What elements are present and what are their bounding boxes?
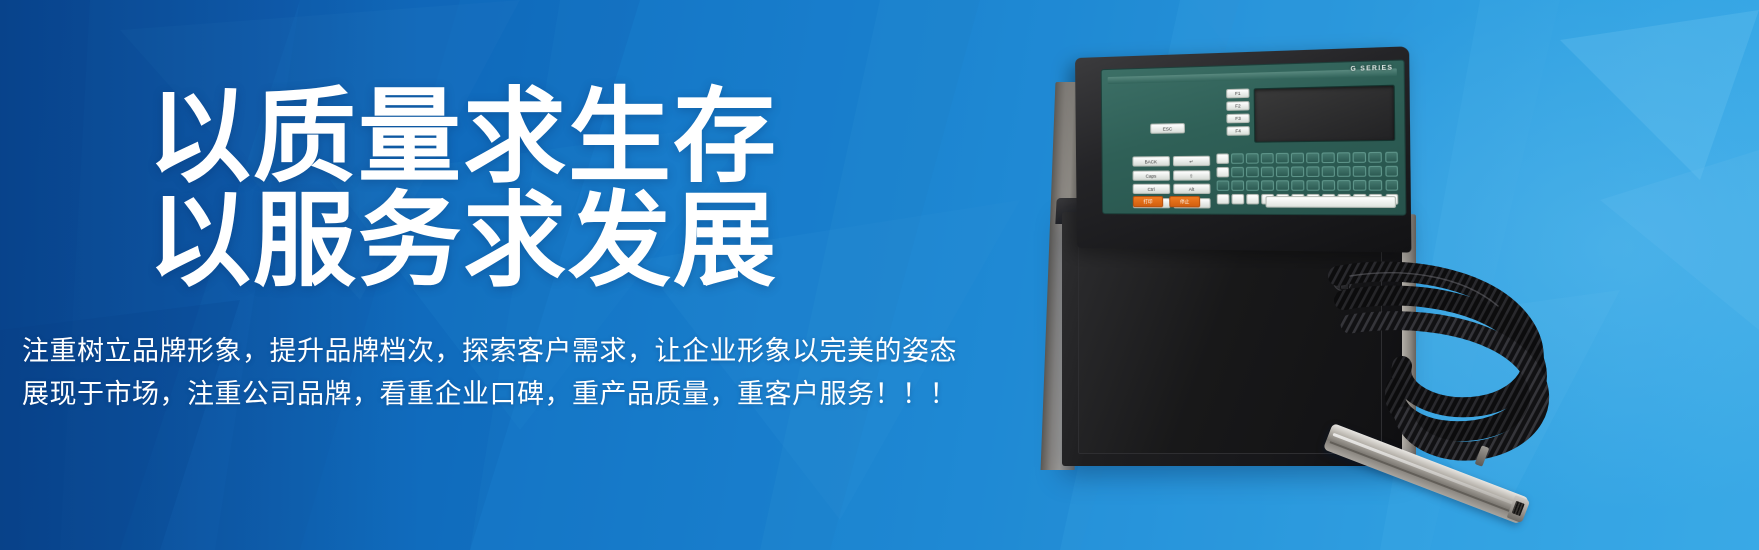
- keyboard-key[interactable]: [1353, 166, 1366, 177]
- keyboard-row: [1216, 152, 1398, 164]
- function-key-f2[interactable]: F2: [1226, 101, 1249, 111]
- printer-brand-label: G SERIES: [1351, 65, 1394, 73]
- modifier-row: Caps ⇧: [1133, 170, 1211, 181]
- keyboard-key[interactable]: [1246, 167, 1258, 178]
- keyboard-key[interactable]: [1369, 166, 1382, 177]
- keyboard-key[interactable]: [1216, 167, 1228, 177]
- key-shift-up[interactable]: ⇧: [1173, 170, 1211, 180]
- key-caps[interactable]: Caps: [1133, 170, 1170, 180]
- headline-line-1: 以质量求生存: [148, 79, 778, 194]
- keyboard-key[interactable]: [1369, 152, 1382, 163]
- promo-banner: 以质量求生存 以服务求发展 注重树立品牌形象，提升品牌档次，探索客户需求，让企业…: [0, 0, 1759, 550]
- keyboard-key[interactable]: [1261, 153, 1273, 164]
- function-key-f1[interactable]: F1: [1226, 88, 1249, 98]
- keyboard-key[interactable]: [1291, 153, 1304, 164]
- keyboard-key[interactable]: [1217, 180, 1229, 190]
- keyboard-key[interactable]: [1231, 153, 1243, 164]
- keyboard-key[interactable]: [1307, 180, 1320, 191]
- keyboard-key[interactable]: [1385, 180, 1398, 191]
- keyboard-key[interactable]: [1231, 180, 1243, 190]
- keyboard-key[interactable]: [1353, 152, 1366, 163]
- keyboard-key[interactable]: [1246, 153, 1258, 164]
- keyboard-key[interactable]: [1322, 180, 1335, 191]
- headline: 以质量求生存 以服务求发展: [148, 85, 778, 293]
- keyboard-key[interactable]: [1322, 166, 1335, 177]
- keyboard-key[interactable]: [1276, 167, 1289, 178]
- keyboard-key[interactable]: [1338, 166, 1351, 177]
- copy-block: 以质量求生存 以服务求发展 注重树立品牌形象，提升品牌档次，探索客户需求，让企业…: [0, 0, 1000, 550]
- keyboard-row: [1217, 180, 1399, 191]
- keyboard-key[interactable]: [1276, 180, 1289, 191]
- modifier-row: BACK ↵: [1132, 156, 1210, 167]
- printer-lcd-screen: [1254, 85, 1396, 143]
- keyboard-key[interactable]: [1291, 166, 1304, 177]
- keyboard-key[interactable]: [1216, 153, 1228, 163]
- action-key-row: 打印 停止: [1133, 196, 1200, 207]
- key-enter[interactable]: ↵: [1172, 156, 1210, 167]
- escape-key[interactable]: ESC: [1150, 123, 1185, 134]
- keyboard-key[interactable]: [1385, 152, 1398, 163]
- printer-console: G SERIES F1 F2 F3 F4 ESC BACK ↵ Caps: [1075, 46, 1411, 252]
- inkjet-printer-product: G SERIES F1 F2 F3 F4 ESC BACK ↵ Caps: [1010, 40, 1570, 500]
- function-key-f4[interactable]: F4: [1227, 126, 1250, 136]
- keyboard-key[interactable]: [1291, 180, 1304, 191]
- print-head-bracket: [1475, 445, 1490, 467]
- print-key[interactable]: 打印: [1133, 196, 1163, 207]
- subtitle-line-2: 展现于市场，注重公司品牌，看重企业口碑，重产品质量，重客户服务！！！: [22, 373, 957, 416]
- subtitle: 注重树立品牌形象，提升品牌档次，探索客户需求，让企业形象以完美的姿态 展现于市场…: [22, 330, 957, 416]
- keyboard-key[interactable]: [1246, 194, 1258, 204]
- print-head-seam: [1330, 441, 1517, 515]
- keyboard-key[interactable]: [1246, 180, 1258, 190]
- headline-line-2: 以服务求发展: [148, 189, 778, 293]
- keyboard-key[interactable]: [1322, 152, 1335, 163]
- function-key-f3[interactable]: F3: [1226, 114, 1249, 124]
- function-key-column: F1 F2 F3 F4: [1226, 88, 1250, 138]
- keyboard-row: [1216, 166, 1398, 178]
- keyboard-key[interactable]: [1337, 152, 1350, 163]
- key-ctrl[interactable]: Ctrl: [1133, 184, 1170, 194]
- keyboard-key[interactable]: [1231, 167, 1243, 177]
- print-head-highlight: [1332, 433, 1520, 507]
- keyboard-key[interactable]: [1231, 194, 1243, 204]
- keyboard-key[interactable]: [1261, 180, 1273, 191]
- keyboard-key[interactable]: [1217, 194, 1229, 204]
- key-alt[interactable]: Alt: [1173, 184, 1211, 194]
- keyboard-key[interactable]: [1261, 167, 1273, 178]
- keyboard-key[interactable]: [1276, 153, 1289, 164]
- key-back[interactable]: BACK: [1132, 156, 1169, 167]
- keyboard-key[interactable]: [1353, 180, 1366, 191]
- stop-key[interactable]: 停止: [1169, 196, 1200, 207]
- print-head-nozzle: [1328, 412, 1546, 508]
- keyboard-key[interactable]: [1338, 180, 1351, 191]
- subtitle-line-1: 注重树立品牌形象，提升品牌档次，探索客户需求，让企业形象以完美的姿态: [22, 330, 957, 373]
- keyboard-key[interactable]: [1369, 180, 1382, 191]
- keyboard-key[interactable]: [1306, 153, 1319, 164]
- keyboard-key[interactable]: [1385, 166, 1398, 177]
- keyboard-key[interactable]: [1307, 166, 1320, 177]
- space-key[interactable]: [1265, 196, 1396, 208]
- printer-control-panel: G SERIES F1 F2 F3 F4 ESC BACK ↵ Caps: [1101, 59, 1407, 215]
- modifier-row: Ctrl Alt: [1133, 184, 1211, 194]
